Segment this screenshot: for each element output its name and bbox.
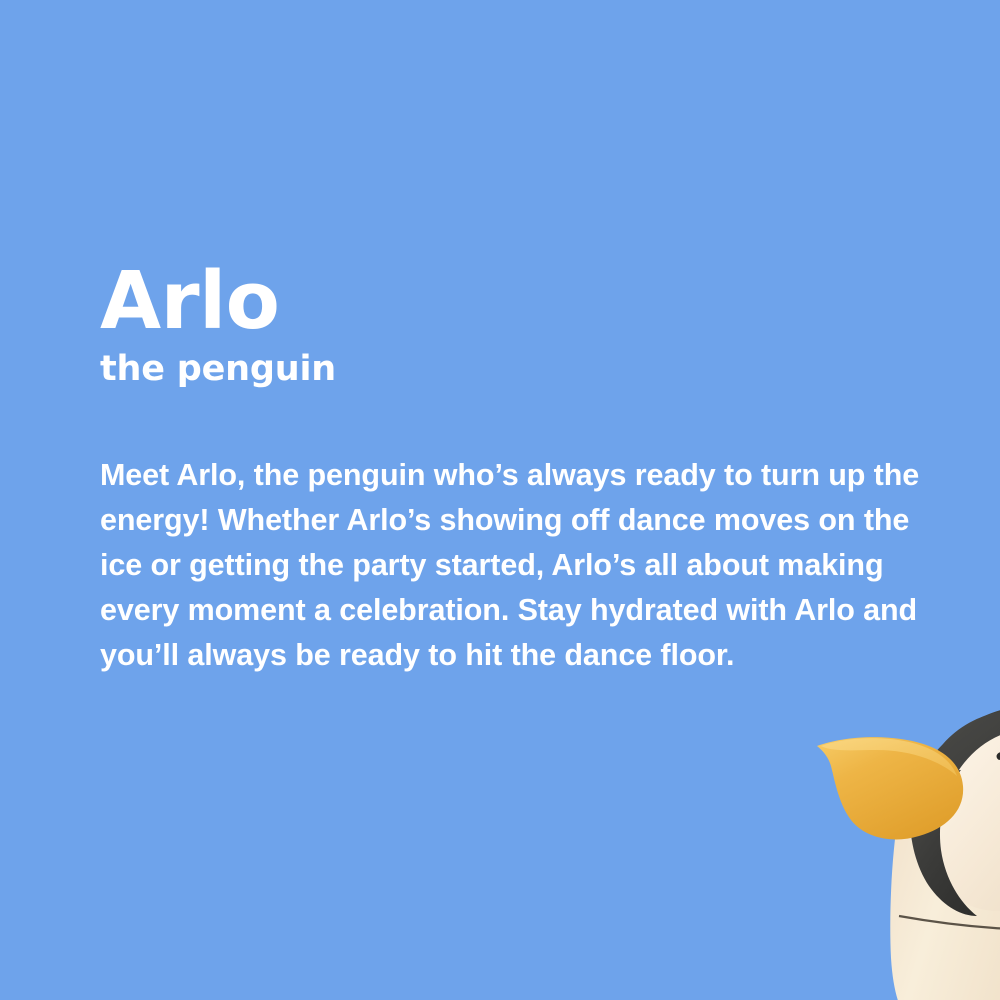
page-title: Arlo xyxy=(100,262,960,346)
character-subtitle: the penguin xyxy=(100,352,960,387)
penguin-eye xyxy=(997,751,1000,802)
character-description: Meet Arlo, the penguin who’s always read… xyxy=(100,453,950,678)
penguin-cheek-band xyxy=(910,770,977,916)
penguin-back xyxy=(903,706,1000,1000)
character-card: Arlo the penguin Meet Arlo, the penguin … xyxy=(0,0,1000,1000)
penguin-beak xyxy=(817,737,963,839)
penguin-flipper-seam xyxy=(899,916,1000,930)
penguin-belly xyxy=(890,807,1000,1000)
character-text-block: Arlo the penguin Meet Arlo, the penguin … xyxy=(100,262,960,678)
penguin-head-cap xyxy=(910,710,1000,898)
penguin-face-patch xyxy=(924,721,1000,911)
penguin-illustration xyxy=(795,690,1000,1000)
penguin-beak-highlight xyxy=(821,738,957,776)
